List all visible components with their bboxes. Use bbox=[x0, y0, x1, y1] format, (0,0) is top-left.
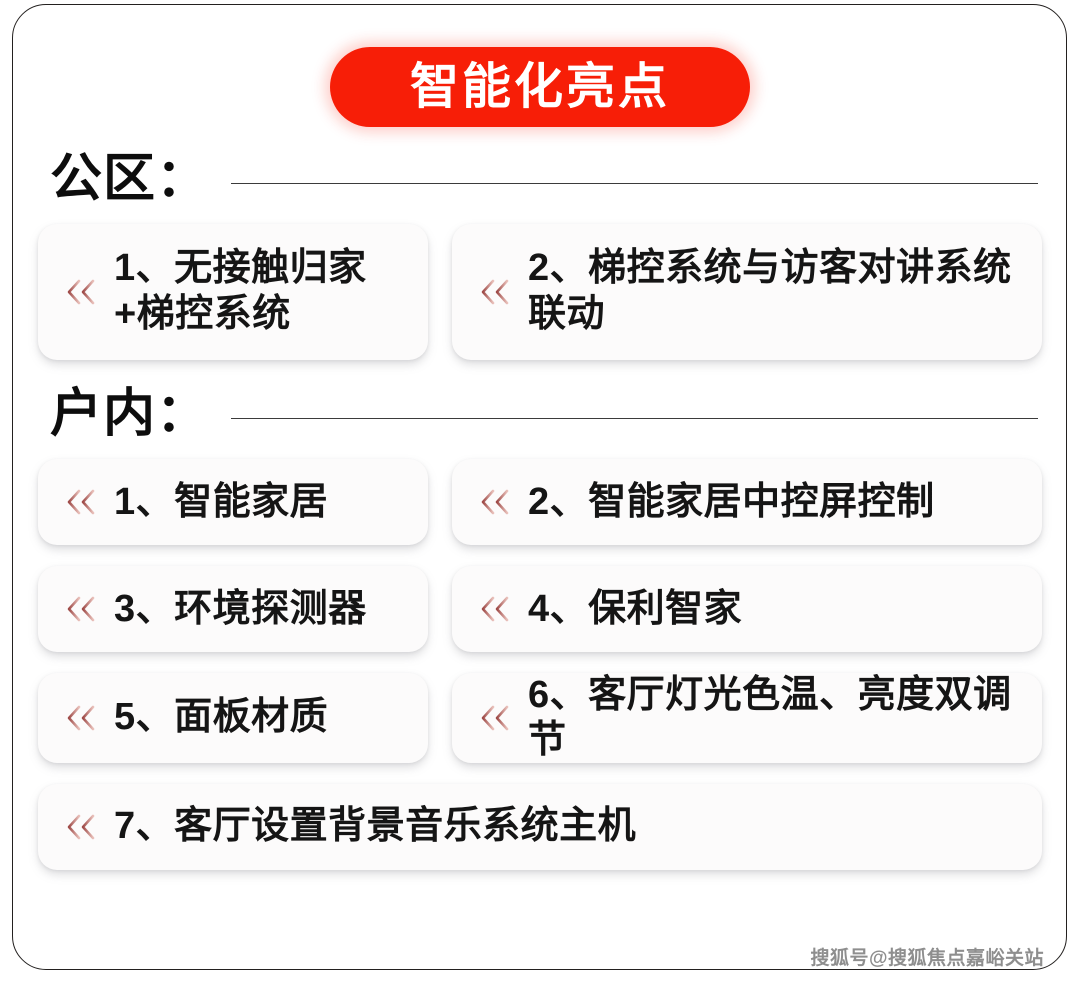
page-title: 智能化亮点 bbox=[410, 63, 670, 112]
double-chevron-left-icon bbox=[62, 275, 102, 309]
feature-card-label: 2、智能家居中控屏控制 bbox=[528, 480, 935, 525]
section-heading-public: 公区： bbox=[38, 153, 1042, 205]
feature-card-indoor-4[interactable]: 4、保利智家 bbox=[452, 566, 1042, 652]
title-row: 智能化亮点 bbox=[38, 0, 1042, 127]
card-row: 1、无接触归家+梯控系统 bbox=[38, 224, 1042, 360]
section-heading-indoor-label: 户内： bbox=[50, 388, 209, 440]
feature-card-label: 1、智能家居 bbox=[114, 480, 328, 525]
double-chevron-left-icon bbox=[62, 701, 102, 735]
poster-content: 智能化亮点 公区： bbox=[0, 0, 1080, 982]
section-heading-public-rule bbox=[231, 183, 1038, 184]
card-row: 1、智能家居 2、智能家居中控屏控制 bbox=[38, 459, 1042, 545]
double-chevron-left-icon bbox=[476, 701, 516, 735]
feature-card-indoor-1[interactable]: 1、智能家居 bbox=[38, 459, 428, 545]
feature-card-label: 5、面板材质 bbox=[114, 695, 328, 740]
watermark: 搜狐号@搜狐焦点嘉峪关站 bbox=[810, 943, 1044, 970]
feature-card-indoor-6[interactable]: 6、客厅灯光色温、亮度双调节 bbox=[452, 673, 1042, 763]
poster-page: 智能化亮点 公区： bbox=[0, 0, 1080, 982]
feature-card-public-1[interactable]: 1、无接触归家+梯控系统 bbox=[38, 224, 428, 360]
feature-card-label: 4、保利智家 bbox=[528, 587, 742, 632]
feature-card-label: 3、环境探测器 bbox=[114, 587, 367, 632]
page-title-badge: 智能化亮点 bbox=[330, 47, 750, 127]
double-chevron-left-icon bbox=[62, 485, 102, 519]
feature-card-label: 2、梯控系统与访客对讲系统联动 bbox=[528, 246, 1032, 337]
indoor-card-rows: 1、智能家居 2、智能家居中控屏控制 bbox=[38, 459, 1042, 870]
section-heading-indoor: 户内： bbox=[38, 388, 1042, 440]
feature-card-label: 7、客厅设置背景音乐系统主机 bbox=[114, 804, 636, 849]
double-chevron-left-icon bbox=[476, 275, 516, 309]
feature-card-indoor-3[interactable]: 3、环境探测器 bbox=[38, 566, 428, 652]
feature-card-indoor-5[interactable]: 5、面板材质 bbox=[38, 673, 428, 763]
section-heading-public-label: 公区： bbox=[50, 153, 209, 205]
watermark-text: 搜狐号@搜狐焦点嘉峪关站 bbox=[810, 943, 1044, 970]
double-chevron-left-icon bbox=[62, 592, 102, 626]
feature-card-label: 1、无接触归家+梯控系统 bbox=[114, 246, 418, 337]
double-chevron-left-icon bbox=[476, 592, 516, 626]
feature-card-public-2[interactable]: 2、梯控系统与访客对讲系统联动 bbox=[452, 224, 1042, 360]
public-card-rows: 1、无接触归家+梯控系统 bbox=[38, 224, 1042, 360]
double-chevron-left-icon bbox=[476, 485, 516, 519]
card-row: 7、客厅设置背景音乐系统主机 bbox=[38, 784, 1042, 870]
card-row: 3、环境探测器 4、保利智家 bbox=[38, 566, 1042, 652]
feature-card-indoor-2[interactable]: 2、智能家居中控屏控制 bbox=[452, 459, 1042, 545]
card-row: 5、面板材质 6、客厅灯光色温、亮度双调节 bbox=[38, 673, 1042, 763]
feature-card-indoor-7[interactable]: 7、客厅设置背景音乐系统主机 bbox=[38, 784, 1042, 870]
double-chevron-left-icon bbox=[62, 810, 102, 844]
section-heading-indoor-rule bbox=[231, 418, 1038, 419]
feature-card-label: 6、客厅灯光色温、亮度双调节 bbox=[528, 673, 1032, 763]
